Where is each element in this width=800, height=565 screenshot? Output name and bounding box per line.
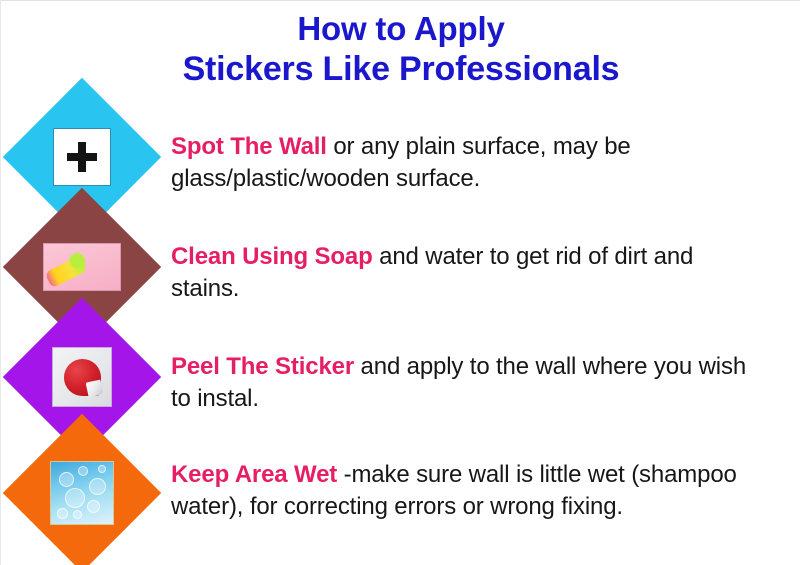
bubble <box>59 472 74 487</box>
infographic-poster: How to Apply Stickers Like Professionals… <box>0 0 800 565</box>
step-4-lead: Keep Area Wet <box>171 461 337 488</box>
bubbles-photo-inset <box>50 461 114 525</box>
step-4-text-cell: Keep Area Wet -make sure wall is little … <box>171 429 751 547</box>
step-2-text: Clean Using Soap and water to get rid of… <box>171 241 751 305</box>
bubble <box>87 500 100 513</box>
step-item-3: Peel The Sticker and apply to the wall w… <box>1 319 800 429</box>
step-1-text: Spot The Wall or any plain surface, may … <box>171 131 751 195</box>
step-2-lead: Clean Using Soap <box>171 243 373 270</box>
sticker-inset-square <box>52 347 112 407</box>
bubble <box>73 510 82 519</box>
glove-shape <box>45 255 88 288</box>
step-4-icon-cell <box>1 429 171 539</box>
glove-photo-inset <box>43 243 121 291</box>
plus-glyph <box>67 142 97 172</box>
bubble <box>57 508 68 519</box>
step-3-text: Peel The Sticker and apply to the wall w… <box>171 351 751 415</box>
water-bubbles-icon <box>3 414 161 565</box>
step-item-2: Clean Using Soap and water to get rid of… <box>1 209 800 319</box>
step-3-text-cell: Peel The Sticker and apply to the wall w… <box>171 319 751 439</box>
bubble <box>78 466 88 476</box>
step-3-lead: Peel The Sticker <box>171 353 354 380</box>
steps-list: Spot The Wall or any plain surface, may … <box>1 99 800 554</box>
step-item-4: Keep Area Wet -make sure wall is little … <box>1 429 800 554</box>
plus-inset-square <box>53 128 111 186</box>
title-line-2: Stickers Like Professionals <box>1 49 800 89</box>
bubble <box>98 465 106 473</box>
page-title: How to Apply Stickers Like Professionals <box>1 9 800 89</box>
step-1-lead: Spot The Wall <box>171 133 327 160</box>
step-3-icon-cell <box>1 319 171 429</box>
step-2-text-cell: Clean Using Soap and water to get rid of… <box>171 209 751 329</box>
bubble <box>65 488 85 508</box>
title-line-1: How to Apply <box>1 9 800 49</box>
step-4-text: Keep Area Wet -make sure wall is little … <box>171 459 751 523</box>
glove-tip <box>67 251 87 271</box>
bubble <box>89 478 106 495</box>
sticker-peel-corner <box>86 380 104 398</box>
step-item-1: Spot The Wall or any plain surface, may … <box>1 99 800 209</box>
step-1-text-cell: Spot The Wall or any plain surface, may … <box>171 99 751 219</box>
